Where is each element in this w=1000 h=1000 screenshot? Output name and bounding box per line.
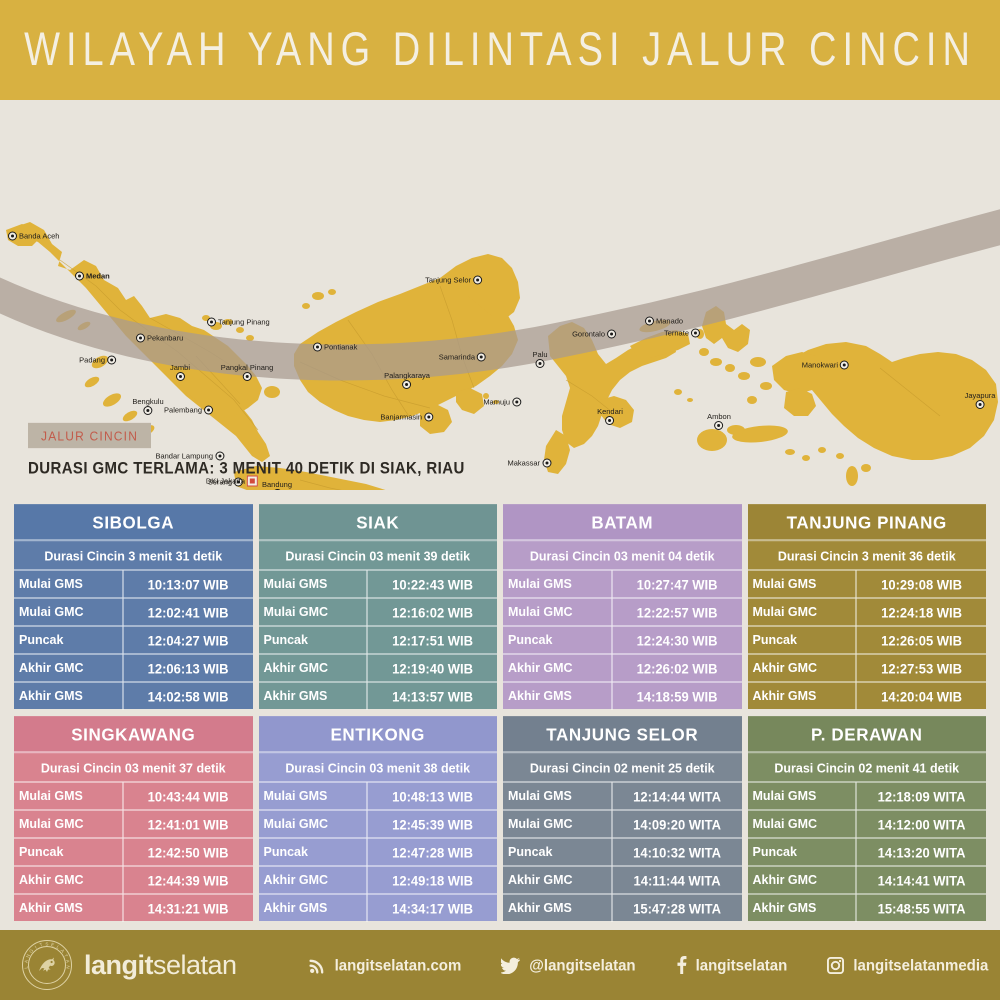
brand-block: LANGITSELATAN langitselatan [22, 940, 237, 990]
table-row: Mulai GMC14:09:20 WITA [503, 809, 742, 837]
row-label: Mulai GMC [748, 598, 858, 626]
city-dot-icon [691, 329, 700, 338]
row-label: Puncak [748, 838, 858, 866]
table-row: Mulai GMC12:24:18 WIB [748, 597, 987, 625]
header-banner: WILAYAH YANG DILINTASI JALUR CINCIN [0, 0, 1000, 100]
seal-ring-char: A [60, 948, 66, 954]
table-row: Puncak12:24:30 WIB [503, 625, 742, 653]
city-label: Palu [532, 350, 547, 359]
city-dot-icon [424, 413, 433, 422]
map-city-marker: Bengkulu [132, 397, 163, 415]
facebook-icon [676, 956, 687, 974]
city-label: Kendari [597, 407, 623, 416]
row-label: Puncak [14, 626, 124, 654]
card-duration: Durasi Cincin 02 menit 41 detik [748, 751, 987, 782]
rss-icon [309, 957, 326, 974]
table-row: Puncak12:26:05 WIB [748, 625, 987, 653]
map-city-marker: Pekanbaru [136, 334, 183, 343]
row-label: Akhir GMC [14, 866, 124, 894]
row-label: Puncak [503, 838, 613, 866]
row-label: Mulai GMC [259, 598, 369, 626]
row-label: Akhir GMC [748, 866, 858, 894]
seal-ring-text: LANGITSELATAN [23, 941, 71, 989]
city-label: Pontianak [324, 343, 357, 352]
city-dot-icon [204, 406, 213, 415]
seal-ring-char: N [25, 953, 31, 958]
seal-ring-char: N [65, 965, 70, 969]
table-row: Akhir GMS14:18:59 WIB [503, 681, 742, 709]
card-duration: Durasi Cincin 02 menit 25 detik [503, 751, 742, 782]
row-value: 12:16:02 WIB [368, 598, 497, 626]
row-label: Akhir GMS [748, 894, 858, 922]
row-value: 10:27:47 WIB [613, 570, 742, 598]
card-title: SIAK [259, 504, 498, 541]
city-label: Medan [86, 272, 110, 281]
row-value: 10:13:07 WIB [124, 570, 253, 598]
city-dot-icon [840, 361, 849, 370]
map-city-marker: Tanjung Selor [425, 276, 482, 285]
row-label: Mulai GMS [259, 570, 369, 598]
row-value: 15:47:28 WITA [613, 894, 742, 922]
seal-ring-char: S [45, 942, 48, 947]
map-city-marker: Mamuju [483, 398, 521, 407]
table-row: Mulai GMS10:29:08 WIB [748, 569, 987, 597]
map-city-marker: Bandung [262, 480, 292, 490]
row-value: 12:02:41 WIB [124, 598, 253, 626]
city-label: Samarinda [439, 353, 475, 362]
table-row: Mulai GMS12:14:44 WITA [503, 781, 742, 809]
social-label: langitselatan.com [335, 956, 462, 974]
table-row: Akhir GMC12:26:02 WIB [503, 653, 742, 681]
city-dot-icon [75, 272, 84, 281]
table-row: Mulai GMS10:48:13 WIB [259, 781, 498, 809]
city-label: Tanjung Pinang [218, 318, 270, 327]
city-dot-icon [144, 406, 153, 415]
card-duration: Durasi Cincin 03 menit 37 detik [14, 751, 253, 782]
table-row: Akhir GMS15:47:28 WITA [503, 893, 742, 921]
card-duration: Durasi Cincin 3 menit 31 detik [14, 539, 253, 570]
table-row: Akhir GMS14:34:17 WIB [259, 893, 498, 921]
city-label: Manado [656, 317, 683, 326]
table-row: Mulai GMS10:27:47 WIB [503, 569, 742, 597]
row-value: 10:29:08 WIB [857, 570, 986, 598]
table-row: Akhir GMS14:20:04 WIB [748, 681, 987, 709]
row-label: Akhir GMS [503, 894, 613, 922]
city-label: Bandung [262, 480, 292, 489]
row-label: Akhir GMC [503, 654, 613, 682]
city-label: Pekanbaru [147, 334, 183, 343]
row-label: Akhir GMC [14, 654, 124, 682]
row-value: 14:13:57 WIB [368, 682, 497, 710]
card-title: SINGKAWANG [14, 716, 253, 753]
row-label: Puncak [503, 626, 613, 654]
row-label: Mulai GMC [14, 598, 124, 626]
map-city-marker: Padang [79, 356, 116, 365]
city-dot-icon [136, 334, 145, 343]
row-value: 12:18:09 WITA [857, 782, 986, 810]
row-label: Akhir GMC [748, 654, 858, 682]
card-title: P. DERAWAN [748, 716, 987, 753]
map-city-marker: Jayapura [965, 391, 996, 409]
brand-light: selatan [153, 950, 237, 980]
row-value: 12:17:51 WIB [368, 626, 497, 654]
row-label: Mulai GMS [259, 782, 369, 810]
city-dot-icon [403, 380, 412, 389]
timing-card: SIAKDurasi Cincin 03 menit 39 detikMulai… [259, 505, 498, 709]
row-label: Akhir GMC [259, 654, 369, 682]
row-value: 14:13:20 WITA [857, 838, 986, 866]
row-value: 12:24:30 WIB [613, 626, 742, 654]
row-value: 14:09:20 WITA [613, 810, 742, 838]
seal-ring-char: I [34, 945, 38, 950]
city-label: Ternate [664, 329, 689, 338]
map-city-marker: Gorontalo [572, 330, 616, 339]
city-label: Jayapura [965, 391, 996, 400]
city-label: Palangkaraya [384, 371, 430, 380]
row-label: Mulai GMC [259, 810, 369, 838]
city-label: Pangkal Pinang [221, 363, 274, 372]
card-duration: Durasi Cincin 03 menit 04 detik [503, 539, 742, 570]
row-label: Mulai GMC [503, 598, 613, 626]
row-value: 12:44:39 WIB [124, 866, 253, 894]
row-value: 12:22:57 WIB [613, 598, 742, 626]
infographic-page: WILAYAH YANG DILINTASI JALUR CINCIN [0, 0, 1000, 1000]
map-city-marker: Pangkal Pinang [221, 363, 274, 381]
timing-card: BATAMDurasi Cincin 03 menit 04 detikMula… [503, 505, 742, 709]
row-label: Akhir GMS [259, 894, 369, 922]
city-label: Mamuju [483, 398, 510, 407]
table-row: Mulai GMC12:22:57 WIB [503, 597, 742, 625]
social-label: langitselatanmedia [853, 956, 988, 974]
row-label: Mulai GMS [503, 782, 613, 810]
social-link[interactable]: @langitselatan [501, 957, 635, 974]
city-dot-icon [273, 489, 282, 490]
map-city-marker: Palangkaraya [384, 371, 430, 389]
table-row: Akhir GMS15:48:55 WITA [748, 893, 987, 921]
timing-card: SIBOLGADurasi Cincin 3 menit 31 detikMul… [14, 505, 253, 709]
city-dot-icon [975, 400, 984, 409]
seal-ring-char: A [24, 959, 30, 963]
table-row: Akhir GMC14:11:44 WITA [503, 865, 742, 893]
instagram-icon [827, 957, 844, 974]
table-row: Puncak14:10:32 WITA [503, 837, 742, 865]
row-value: 12:42:50 WIB [124, 838, 253, 866]
row-value: 10:48:13 WIB [368, 782, 497, 810]
city-dot-icon [175, 372, 184, 381]
table-row: Akhir GMS14:31:21 WIB [14, 893, 253, 921]
row-value: 14:11:44 WITA [613, 866, 742, 894]
row-label: Mulai GMC [14, 810, 124, 838]
row-label: Akhir GMS [14, 682, 124, 710]
row-value: 15:48:55 WITA [857, 894, 986, 922]
seal-ring-char: G [28, 948, 34, 954]
city-dot-icon [512, 398, 521, 407]
map-city-marker: Kendari [597, 407, 623, 425]
social-label: langitselatan [696, 956, 788, 974]
city-label: Ambon [707, 412, 731, 421]
table-row: Puncak12:04:27 WIB [14, 625, 253, 653]
row-label: Mulai GMS [503, 570, 613, 598]
row-value: 14:02:58 WIB [124, 682, 253, 710]
map-city-marker: Palu [532, 350, 547, 368]
social-link[interactable]: langitselatanmedia [827, 957, 988, 974]
row-label: Puncak [748, 626, 858, 654]
legend-caption: DURASI GMC TERLAMA: 3 MENIT 40 DETIK DI … [28, 459, 1000, 478]
card-duration: Durasi Cincin 03 menit 39 detik [259, 539, 498, 570]
row-label: Puncak [14, 838, 124, 866]
table-row: Akhir GMS14:13:57 WIB [259, 681, 498, 709]
map-city-marker: Tanjung Pinang [207, 318, 270, 327]
row-value: 14:10:32 WITA [613, 838, 742, 866]
row-label: Mulai GMS [748, 570, 858, 598]
map-city-marker: Palembang [164, 406, 213, 415]
map-city-marker: Jambi [170, 363, 190, 381]
row-value: 12:26:05 WIB [857, 626, 986, 654]
row-label: Akhir GMC [503, 866, 613, 894]
table-row: Akhir GMC12:49:18 WIB [259, 865, 498, 893]
row-value: 12:49:18 WIB [368, 866, 497, 894]
twitter-icon [501, 957, 520, 974]
card-title: ENTIKONG [259, 716, 498, 753]
seal-ring-char: L [56, 944, 61, 950]
social-link[interactable]: langitselatan.com [309, 957, 462, 974]
row-value: 14:18:59 WIB [613, 682, 742, 710]
map-city-marker: Pontianak [313, 343, 357, 352]
city-dot-icon [107, 356, 116, 365]
city-dot-icon [607, 330, 616, 339]
table-row: Puncak12:47:28 WIB [259, 837, 498, 865]
table-row: Mulai GMS10:13:07 WIB [14, 569, 253, 597]
langitselatan-seal-icon: LANGITSELATAN [22, 940, 72, 990]
card-duration: Durasi Cincin 03 menit 38 detik [259, 751, 498, 782]
city-dot-icon [207, 318, 216, 327]
city-label: Jambi [170, 363, 190, 372]
table-row: Akhir GMC12:06:13 WIB [14, 653, 253, 681]
card-title: BATAM [503, 504, 742, 541]
city-label: Padang [79, 356, 105, 365]
row-value: 14:34:17 WIB [368, 894, 497, 922]
timing-card: TANJUNG SELORDurasi Cincin 02 menit 25 d… [503, 717, 742, 921]
row-label: Mulai GMC [503, 810, 613, 838]
row-value: 10:22:43 WIB [368, 570, 497, 598]
seal-ring-char: T [39, 942, 43, 948]
page-title: WILAYAH YANG DILINTASI JALUR CINCIN [24, 23, 976, 77]
city-label: Manokwari [802, 361, 838, 370]
row-value: 14:14:41 WITA [857, 866, 986, 894]
row-label: Mulai GMS [14, 570, 124, 598]
city-dot-icon [242, 372, 251, 381]
city-dot-icon [477, 353, 486, 362]
row-label: Mulai GMS [14, 782, 124, 810]
table-row: Puncak14:13:20 WITA [748, 837, 987, 865]
social-label: @langitselatan [529, 956, 635, 974]
table-row: Mulai GMC12:02:41 WIB [14, 597, 253, 625]
map-city-marker: Samarinda [439, 353, 486, 362]
city-label: Bengkulu [132, 397, 163, 406]
row-value: 10:43:44 WIB [124, 782, 253, 810]
city-dot-icon [313, 343, 322, 352]
city-dot-icon [473, 276, 482, 285]
brand-wordmark: langitselatan [84, 950, 237, 981]
row-label: Mulai GMC [748, 810, 858, 838]
city-timing-cards: SIBOLGADurasi Cincin 3 menit 31 detikMul… [14, 505, 986, 921]
row-label: Akhir GMS [503, 682, 613, 710]
table-row: Mulai GMS10:43:44 WIB [14, 781, 253, 809]
seal-ring-char: L [23, 966, 28, 969]
row-label: Mulai GMS [748, 782, 858, 810]
table-row: Mulai GMC12:45:39 WIB [259, 809, 498, 837]
row-value: 12:24:18 WIB [857, 598, 986, 626]
timing-card: ENTIKONGDurasi Cincin 03 menit 38 detikM… [259, 717, 498, 921]
timing-card: SINGKAWANGDurasi Cincin 03 menit 37 deti… [14, 717, 253, 921]
map-city-marker: Banda Aceh [8, 232, 59, 241]
row-value: 12:04:27 WIB [124, 626, 253, 654]
row-value: 14:31:21 WIB [124, 894, 253, 922]
city-dot-icon [8, 232, 17, 241]
map-city-marker: Medan [75, 272, 110, 281]
row-label: Akhir GMS [748, 682, 858, 710]
table-row: Akhir GMC14:14:41 WITA [748, 865, 987, 893]
row-label: Akhir GMC [259, 866, 369, 894]
city-dot-icon [645, 317, 654, 326]
row-label: Puncak [259, 626, 369, 654]
table-row: Puncak12:42:50 WIB [14, 837, 253, 865]
social-link[interactable]: langitselatan [676, 956, 788, 974]
row-label: Puncak [259, 838, 369, 866]
card-title: TANJUNG PINANG [748, 504, 987, 541]
footer-bar: LANGITSELATAN langitselatan langitselata… [0, 930, 1000, 1000]
table-row: Mulai GMC12:16:02 WIB [259, 597, 498, 625]
city-label: Banda Aceh [19, 232, 59, 241]
row-value: 12:06:13 WIB [124, 654, 253, 682]
row-value: 12:41:01 WIB [124, 810, 253, 838]
map-legend: JALUR CINCIN DURASI GMC TERLAMA: 3 MENIT… [0, 424, 1000, 476]
card-title: SIBOLGA [14, 504, 253, 541]
city-label: Gorontalo [572, 330, 605, 339]
map-city-marker: Banjarmasin [380, 413, 433, 422]
row-value: 12:26:02 WIB [613, 654, 742, 682]
brand-bold: langit [84, 950, 153, 980]
row-label: Akhir GMS [14, 894, 124, 922]
legend-badge-jalur-cincin: JALUR CINCIN [28, 423, 151, 448]
row-value: 14:12:00 WITA [857, 810, 986, 838]
table-row: Mulai GMS12:18:09 WITA [748, 781, 987, 809]
seal-ring-char: E [50, 942, 55, 948]
seal-ring-char: A [65, 959, 71, 963]
row-value: 12:14:44 WITA [613, 782, 742, 810]
city-label: Banjarmasin [380, 413, 422, 422]
table-row: Mulai GMC14:12:00 WITA [748, 809, 987, 837]
timing-card: P. DERAWANDurasi Cincin 02 menit 41 deti… [748, 717, 987, 921]
card-duration: Durasi Cincin 3 menit 36 detik [748, 539, 987, 570]
timing-card: TANJUNG PINANGDurasi Cincin 3 menit 36 d… [748, 505, 987, 709]
city-dot-icon [535, 359, 544, 368]
map-city-marker: Ternate [664, 329, 700, 338]
row-value: 14:20:04 WIB [857, 682, 986, 710]
row-value: 12:27:53 WIB [857, 654, 986, 682]
table-row: Mulai GMS10:22:43 WIB [259, 569, 498, 597]
table-row: Mulai GMC12:41:01 WIB [14, 809, 253, 837]
row-value: 12:47:28 WIB [368, 838, 497, 866]
city-label: Tanjung Selor [425, 276, 471, 285]
row-label: Akhir GMS [259, 682, 369, 710]
city-label: Palembang [164, 406, 202, 415]
row-value: 12:45:39 WIB [368, 810, 497, 838]
table-row: Akhir GMS14:02:58 WIB [14, 681, 253, 709]
table-row: Akhir GMC12:27:53 WIB [748, 653, 987, 681]
row-value: 12:19:40 WIB [368, 654, 497, 682]
table-row: Akhir GMC12:19:40 WIB [259, 653, 498, 681]
card-title: TANJUNG SELOR [503, 716, 742, 753]
map-city-marker: Manokwari [802, 361, 849, 370]
table-row: Akhir GMC12:44:39 WIB [14, 865, 253, 893]
table-row: Puncak12:17:51 WIB [259, 625, 498, 653]
map-city-marker: Manado [645, 317, 683, 326]
social-links: langitselatan.com@langitselatanlangitsel… [309, 956, 989, 974]
seal-ring-char: T [63, 953, 69, 958]
